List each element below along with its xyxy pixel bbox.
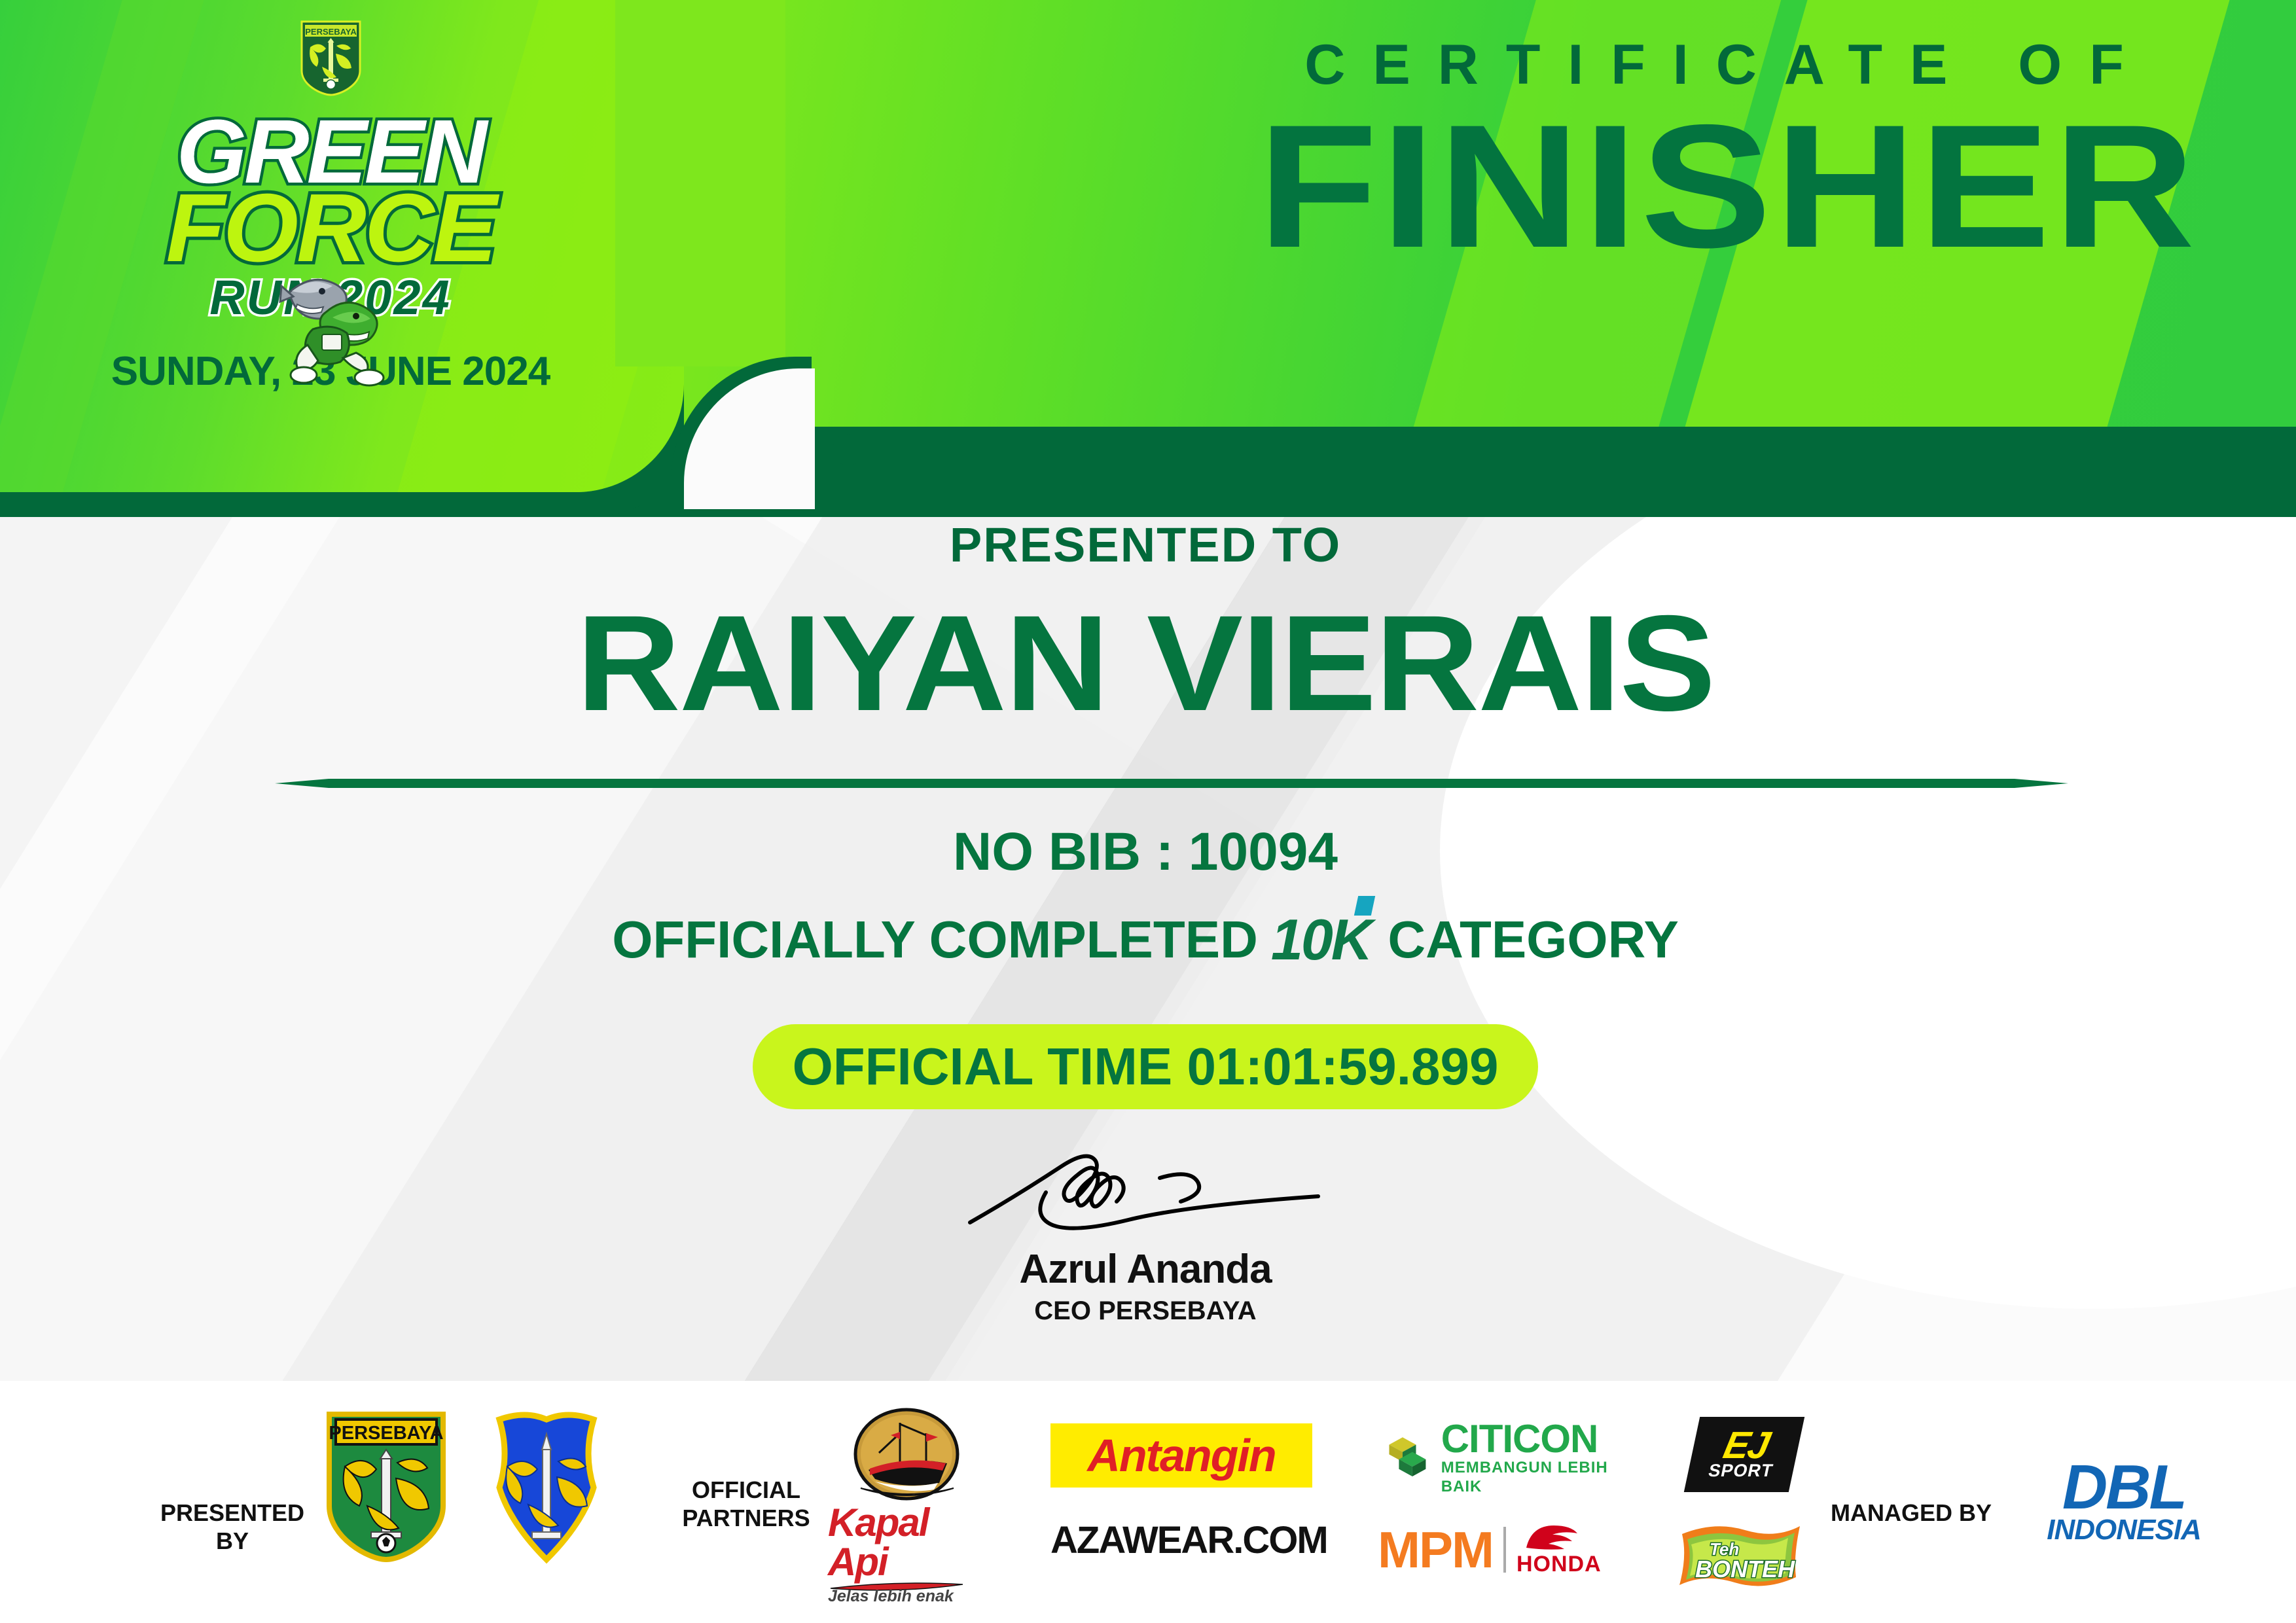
presented-to-label: PRESENTED TO (589, 517, 1702, 573)
honda-wordmark: HONDA (1516, 1552, 1602, 1577)
managed-by-label: MANAGED BY (1826, 1499, 1996, 1527)
green-force-run-logo: GREEN FORCE (39, 115, 622, 395)
sponsor-persebaya-crest-icon: PERSEBAYA (324, 1410, 448, 1564)
category-prefix: OFFICIALLY COMPLETED (612, 910, 1258, 970)
signatory-role: CEO PERSEBAYA (884, 1296, 1407, 1326)
recipient-name: RAIYAN VIERAIS (417, 589, 1874, 739)
mpm-wordmark: MPM (1378, 1524, 1493, 1575)
category-suffix: CATEGORY (1388, 910, 1678, 970)
teh-bonteh-ribbon-icon: Teh BONTEH (1676, 1518, 1806, 1594)
name-divider (275, 779, 2068, 788)
official-partners-line-1: OFFICIAL (681, 1476, 812, 1504)
official-time-badge: OFFICIAL TIME 01:01:59.899 (753, 1024, 1538, 1109)
header-rule-line (851, 447, 2296, 453)
ten-k-badge-icon: 10K (1271, 906, 1374, 973)
presented-by-label: PRESENTED BY (157, 1499, 308, 1555)
category-line: OFFICIALLY COMPLETED 10K CATEGORY (393, 906, 1898, 973)
dbl-indonesia-sub: INDONESIA (2009, 1516, 2238, 1544)
official-partners-label: OFFICIAL PARTNERS (681, 1476, 812, 1532)
signatory-name: Azrul Ananda (884, 1246, 1407, 1293)
certificate-finisher-title: FINISHER (1105, 98, 2296, 274)
sponsor-kapal-api-logo: Kapal Api Jelas lebih enak (828, 1407, 985, 1597)
ej-sport-sub: SPORT (1707, 1462, 1775, 1480)
sponsor-antangin-logo: Antangin (1050, 1423, 1312, 1488)
antangin-wordmark: Antangin (1087, 1429, 1275, 1482)
sponsor-ej-sport-logo: EJ SPORT (1692, 1417, 1797, 1492)
logo-word-force: FORCE (39, 187, 622, 270)
svg-text:BONTEH: BONTEH (1695, 1556, 1795, 1582)
ej-wordmark: EJ (1721, 1429, 1771, 1461)
bib-number-line: NO BIB : 10094 (589, 821, 1702, 883)
citicon-wordmark: CITICON (1441, 1419, 1640, 1459)
header-banner: PERSEBAYA GREEN FORCE (0, 0, 2296, 524)
official-time-text: OFFICIAL TIME 01:01:59.899 (793, 1037, 1499, 1097)
persebaya-crest-icon: PERSEBAYA (300, 20, 362, 97)
ten-k-accent-mark (1354, 896, 1375, 916)
handwritten-signature-icon (929, 1145, 1361, 1243)
sponsor-surabaya-crest-icon (488, 1410, 605, 1564)
mpm-divider (1503, 1527, 1506, 1573)
svg-text:PERSEBAYA: PERSEBAYA (329, 1423, 443, 1444)
sponsor-dbl-indonesia-logo: DBL INDONESIA (2009, 1459, 2238, 1558)
azawear-wordmark: AZAWEAR.COM (1050, 1519, 1327, 1561)
dbl-wordmark: DBL (2009, 1459, 2238, 1516)
official-partners-line-2: PARTNERS (681, 1504, 812, 1532)
sponsor-azawear-logo: AZAWEAR.COM (1050, 1518, 1338, 1564)
citicon-tagline: MEMBANGUN LEBIH BAIK (1441, 1459, 1640, 1497)
certificate-page: PERSEBAYA GREEN FORCE (0, 0, 2296, 1623)
kapal-api-ship-icon (828, 1407, 985, 1505)
signature-block: Azrul Ananda CEO PERSEBAYA (884, 1145, 1407, 1326)
ten-k-text: 10K (1271, 907, 1371, 972)
sponsor-mpm-honda-logo: MPM HONDA (1378, 1522, 1640, 1587)
citicon-cube-icon (1384, 1429, 1432, 1487)
svg-text:PERSEBAYA: PERSEBAYA (305, 27, 357, 37)
sponsor-citicon-logo: CITICON MEMBANGUN LEBIH BAIK (1384, 1427, 1640, 1489)
event-date: SUNDAY, 23 JUNE 2024 (39, 348, 622, 395)
honda-wing-icon (1520, 1522, 1598, 1552)
kapal-api-wordmark: Kapal Api (828, 1503, 985, 1582)
sponsor-teh-bonteh-logo: Teh BONTEH (1676, 1518, 1806, 1594)
